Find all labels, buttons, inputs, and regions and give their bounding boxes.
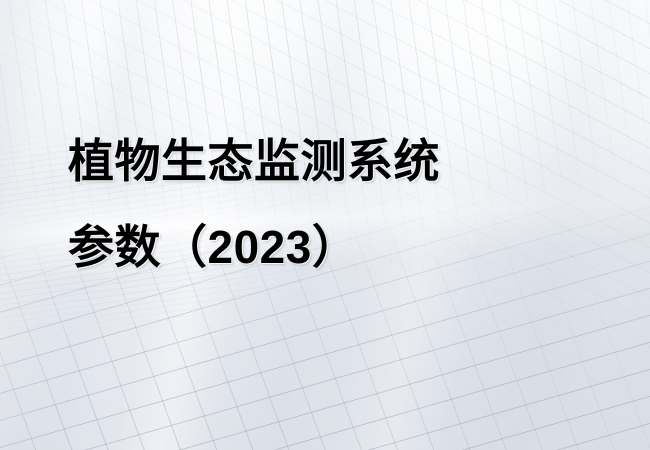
page-title-line-1: 植物生态监测系统 — [68, 118, 588, 204]
title-slide: 植物生态监测系统 参数（2023） — [0, 0, 650, 450]
page-title-line-2: 参数（2023） — [68, 204, 588, 290]
page-title: 植物生态监测系统 参数（2023） — [68, 118, 588, 290]
